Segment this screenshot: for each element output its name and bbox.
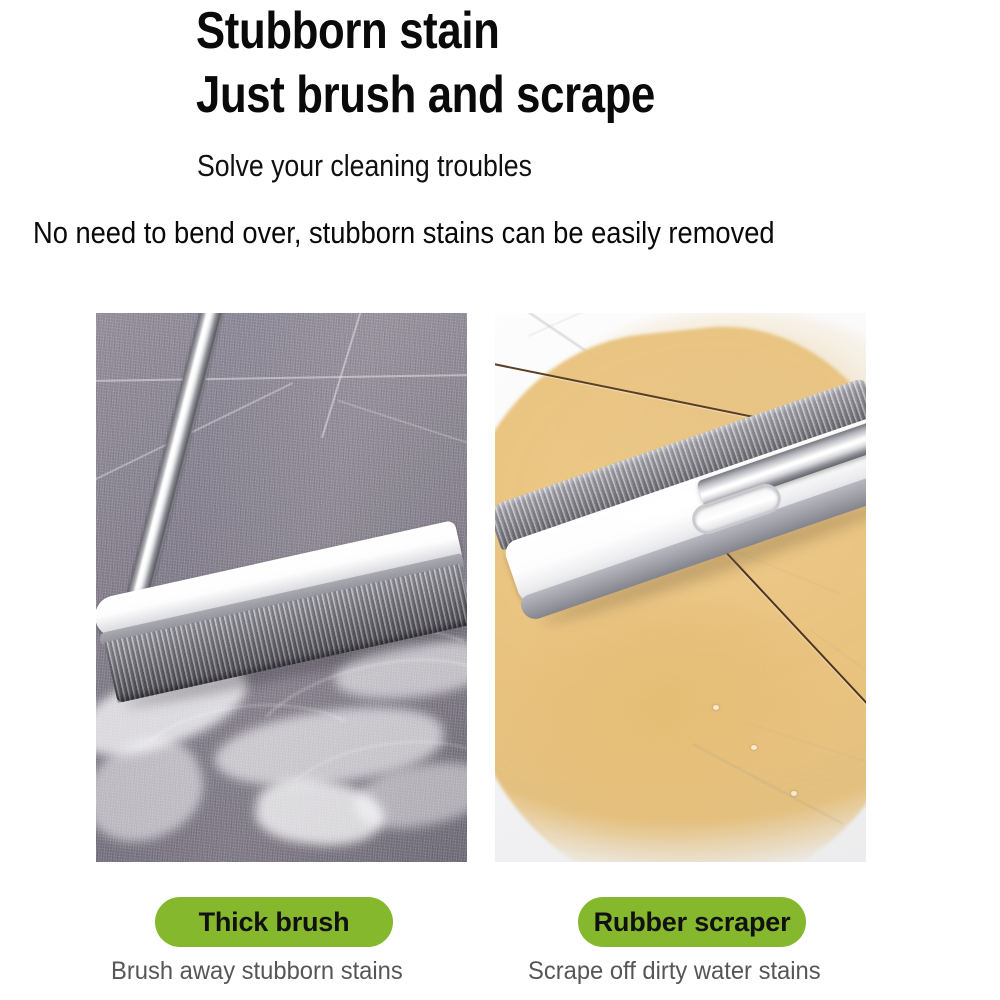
caption-left: Brush away stubborn stains bbox=[111, 957, 403, 986]
product-photo-right bbox=[495, 313, 866, 862]
photo-rubber-scraper-marble-floor bbox=[495, 313, 866, 862]
headline-line-1: Stubborn stain bbox=[196, 2, 499, 60]
headline-line-2: Just brush and scrape bbox=[196, 66, 655, 124]
badge-rubber-scraper: Rubber scraper bbox=[578, 897, 806, 947]
product-photo-left bbox=[96, 313, 467, 862]
subheading-line-2: No need to bend over, stubborn stains ca… bbox=[33, 215, 775, 251]
water-bead bbox=[751, 745, 757, 750]
photo-rubber-broom-gray-floor bbox=[96, 313, 467, 862]
caption-right: Scrape off dirty water stains bbox=[528, 957, 821, 986]
product-marketing-page: Stubborn stain Just brush and scrape Sol… bbox=[0, 0, 1000, 1000]
subheading-line-1: Solve your cleaning troubles bbox=[197, 148, 532, 184]
badge-thick-brush: Thick brush bbox=[155, 897, 393, 947]
water-bead bbox=[791, 791, 797, 796]
water-bead bbox=[713, 705, 719, 710]
